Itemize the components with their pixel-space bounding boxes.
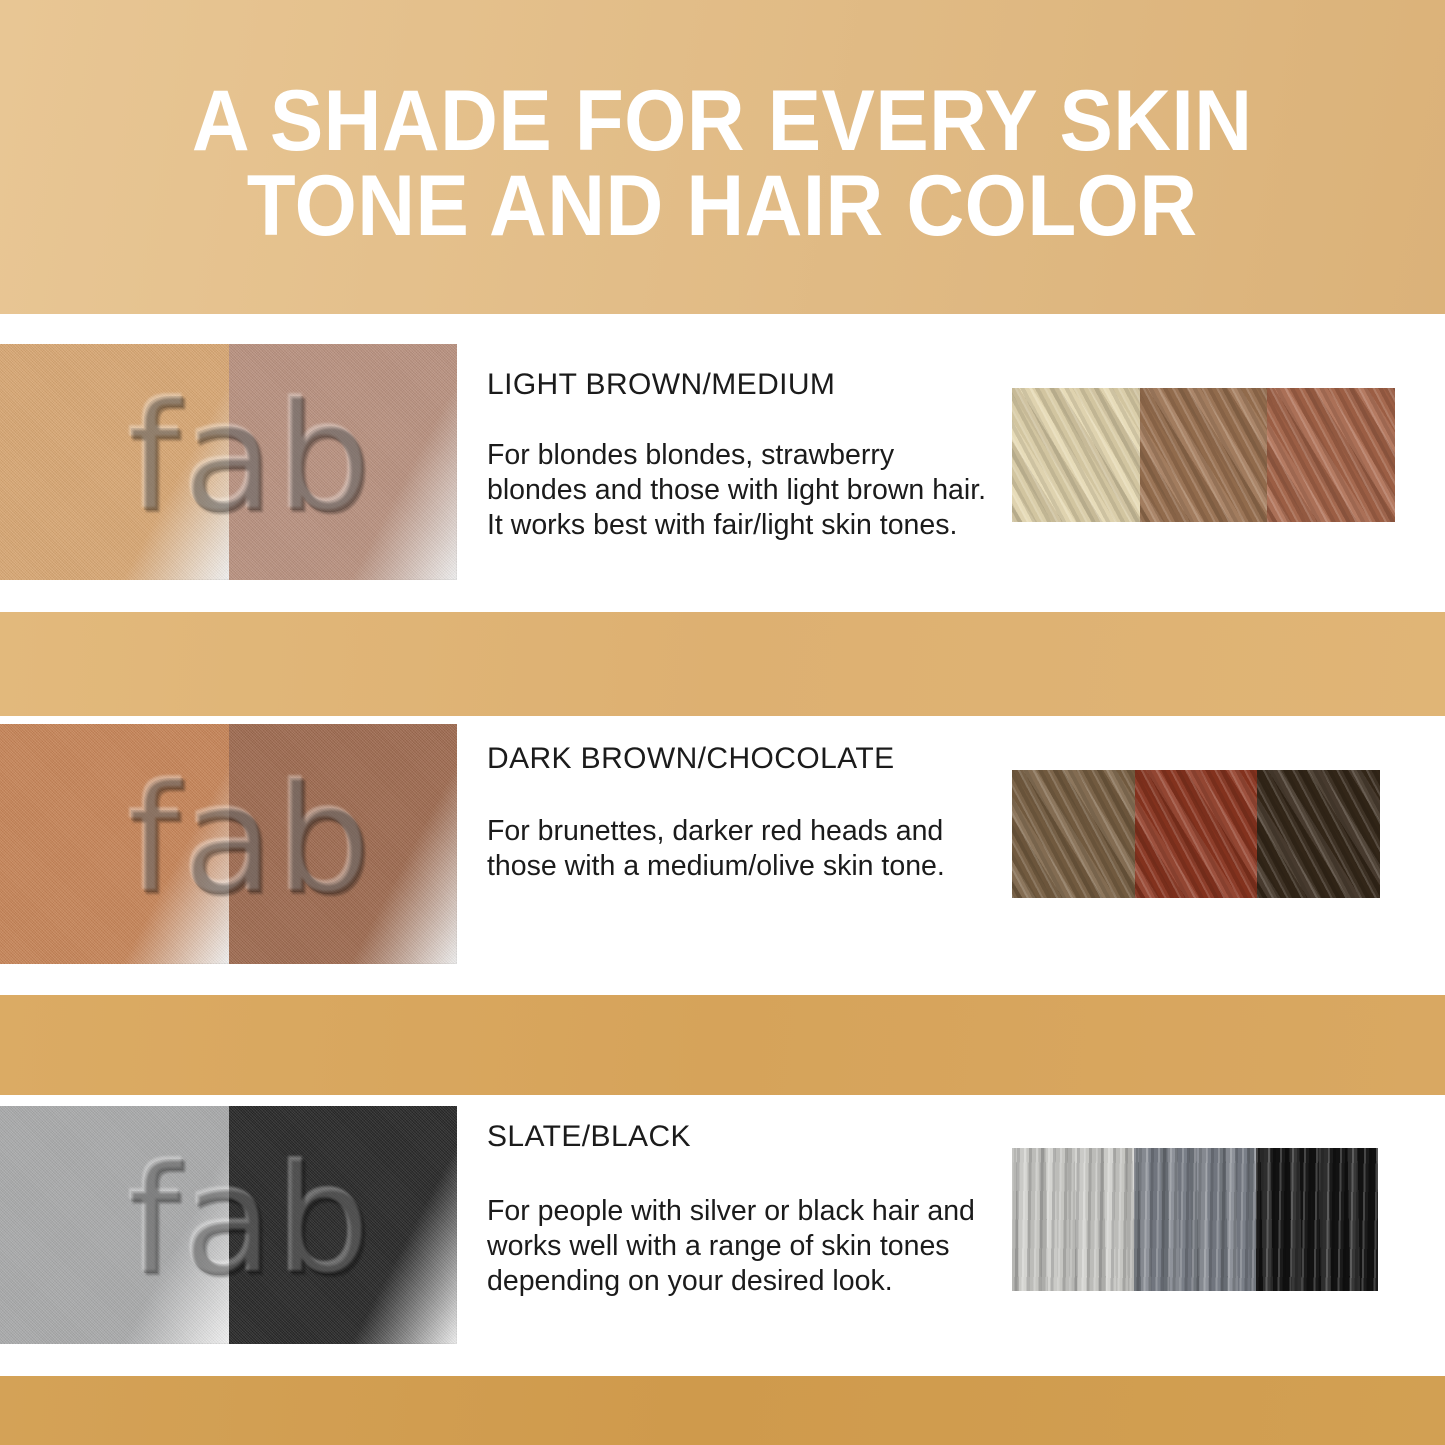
- pan-half-right: [229, 344, 458, 580]
- page-title: A SHADE FOR EVERY SKIN TONE AND HAIR COL…: [192, 79, 1253, 249]
- hair-swatch-strip: [1012, 770, 1380, 898]
- shade-description: For brunettes, darker red heads and thos…: [487, 814, 987, 884]
- hair-swatch-golden-brown: [1140, 388, 1268, 522]
- hair-swatch-strip: [1012, 1148, 1378, 1291]
- pan-half-left: [0, 1106, 229, 1344]
- pan-half-left: [0, 724, 229, 964]
- shade-row-slate-black: fab SLATE/BLACK For people with silver o…: [0, 1106, 1445, 1344]
- hair-swatch-silver-white: [1012, 1148, 1134, 1291]
- hair-swatch-ash-brown: [1012, 770, 1135, 898]
- hair-swatch-dark-brown: [1257, 770, 1380, 898]
- hair-swatch-strip: [1012, 388, 1395, 522]
- pan-half-left: [0, 344, 229, 580]
- shade-text-block: SLATE/BLACK For people with silver or bl…: [487, 1106, 987, 1298]
- page-title-line-2: TONE AND HAIR COLOR: [192, 164, 1253, 249]
- header-banner: A SHADE FOR EVERY SKIN TONE AND HAIR COL…: [0, 0, 1445, 314]
- hair-swatch-red-auburn: [1135, 770, 1258, 898]
- shade-description: For people with silver or black hair and…: [487, 1194, 987, 1298]
- pan-half-right: [229, 1106, 458, 1344]
- shade-row-light-brown-medium: fab LIGHT BROWN/MEDIUM For blondes blond…: [0, 344, 1445, 580]
- product-pan-light-brown-medium: fab: [0, 344, 457, 580]
- hair-swatch-black: [1256, 1148, 1378, 1291]
- shade-description: For blondes blondes, strawberry blondes …: [487, 438, 987, 542]
- shade-heading: LIGHT BROWN/MEDIUM: [487, 368, 987, 402]
- product-pan-slate-black: fab: [0, 1106, 457, 1344]
- shade-heading: SLATE/BLACK: [487, 1120, 987, 1154]
- product-pan-dark-brown-chocolate: fab: [0, 724, 457, 964]
- hair-swatch-pale-blonde: [1012, 388, 1140, 522]
- divider-band-1: [0, 612, 1445, 716]
- hair-swatch-copper-auburn: [1267, 388, 1395, 522]
- shade-row-dark-brown-chocolate: fab DARK BROWN/CHOCOLATE For brunettes, …: [0, 724, 1445, 964]
- divider-band-2: [0, 995, 1445, 1095]
- hair-swatch-gray: [1134, 1148, 1256, 1291]
- pan-half-right: [229, 724, 458, 964]
- shade-text-block: DARK BROWN/CHOCOLATE For brunettes, dark…: [487, 724, 987, 884]
- page-title-line-1: A SHADE FOR EVERY SKIN: [192, 79, 1253, 164]
- shade-text-block: LIGHT BROWN/MEDIUM For blondes blondes, …: [487, 344, 987, 542]
- bottom-band: [0, 1376, 1445, 1445]
- shade-heading: DARK BROWN/CHOCOLATE: [487, 742, 987, 776]
